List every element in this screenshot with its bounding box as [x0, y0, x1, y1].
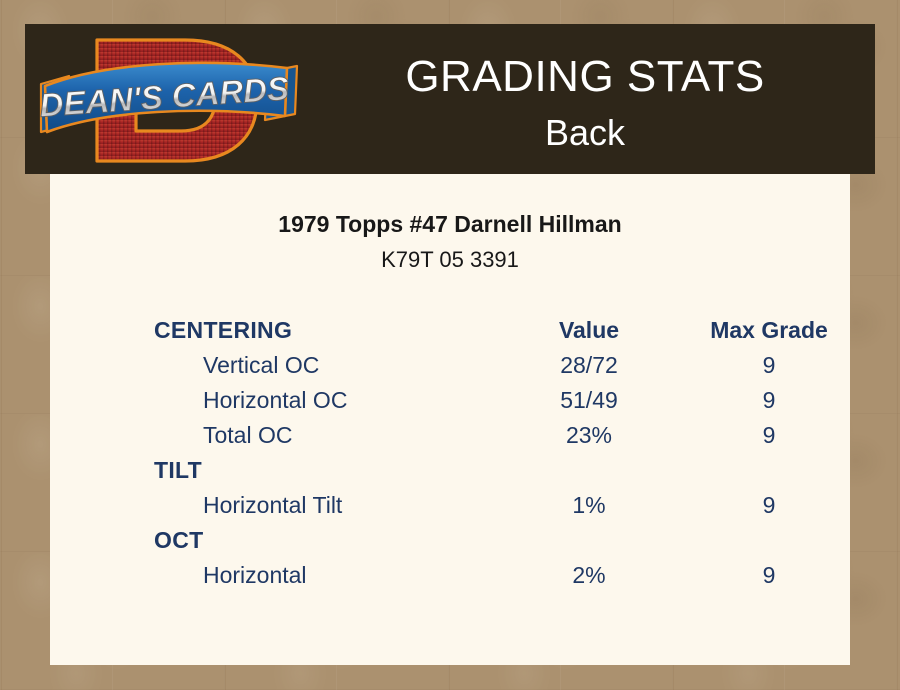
stat-max-grade: 9 — [684, 384, 854, 416]
section-heading-oct: OCT — [154, 524, 203, 556]
table-header-row: CENTERING Value Max Grade — [154, 314, 854, 349]
section-heading-row: TILT — [154, 454, 854, 489]
card-title: 1979 Topps #47 Darnell Hillman — [50, 210, 850, 238]
column-header-value: Value — [504, 314, 674, 346]
section-heading-centering: CENTERING — [154, 314, 292, 346]
stat-label: Horizontal OC — [203, 384, 347, 416]
stat-max-grade: 9 — [684, 559, 854, 591]
stat-max-grade: 9 — [684, 419, 854, 451]
stat-value: 1% — [504, 489, 674, 521]
card-serial-number: K79T 05 3391 — [50, 246, 850, 274]
section-heading-tilt: TILT — [154, 454, 202, 486]
stat-value: 51/49 — [504, 384, 674, 416]
page-subtitle: Back — [305, 112, 865, 154]
stat-value: 28/72 — [504, 349, 674, 381]
stat-label: Horizontal Tilt — [203, 489, 342, 521]
table-row: Vertical OC 28/72 9 — [154, 349, 854, 384]
stat-max-grade: 9 — [684, 489, 854, 521]
table-row: Total OC 23% 9 — [154, 419, 854, 454]
stat-label: Horizontal — [203, 559, 307, 591]
page-title: GRADING STATS — [305, 52, 865, 102]
deans-cards-logo[interactable]: DEAN'S CARDS — [35, 28, 305, 173]
table-row: Horizontal OC 51/49 9 — [154, 384, 854, 419]
grading-stats-page: DEAN'S CARDS GRADING STATS Back 1979 Top… — [0, 0, 900, 690]
stat-label: Vertical OC — [203, 349, 319, 381]
stat-value: 2% — [504, 559, 674, 591]
stat-max-grade: 9 — [684, 349, 854, 381]
content-panel: 1979 Topps #47 Darnell Hillman K79T 05 3… — [50, 174, 850, 665]
table-row: Horizontal 2% 9 — [154, 559, 854, 594]
section-heading-row: OCT — [154, 524, 854, 559]
stat-value: 23% — [504, 419, 674, 451]
grading-stats-table: CENTERING Value Max Grade Vertical OC 28… — [154, 314, 854, 594]
table-row: Horizontal Tilt 1% 9 — [154, 489, 854, 524]
stat-label: Total OC — [203, 419, 292, 451]
column-header-max-grade: Max Grade — [684, 314, 854, 346]
logo-ribbon-icon: DEAN'S CARDS — [35, 28, 305, 173]
